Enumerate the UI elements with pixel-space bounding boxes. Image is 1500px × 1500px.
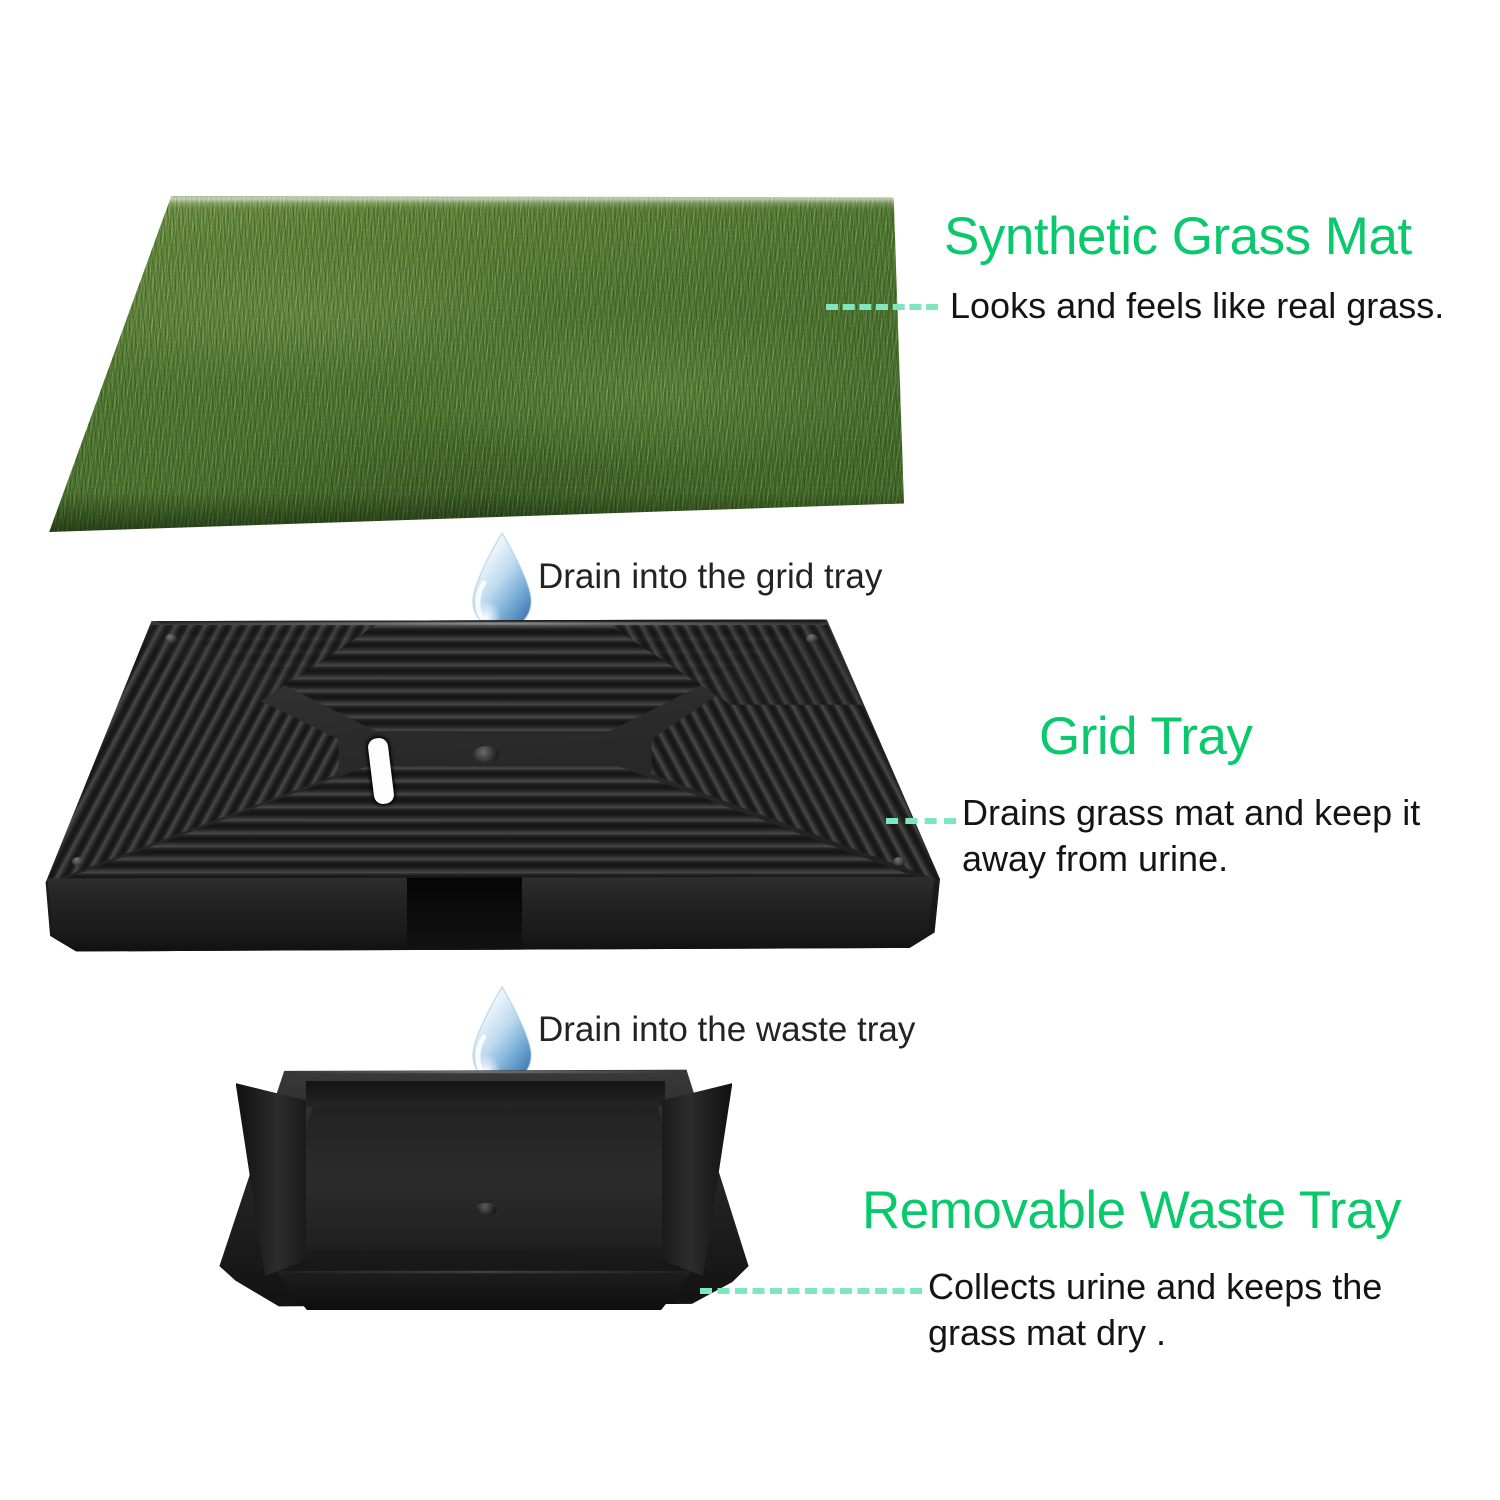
grass-bottom-shadow bbox=[44, 492, 904, 532]
synthetic-grass-mat bbox=[44, 196, 904, 532]
caption-removable-waste-tray: Collects urine and keeps the grass mat d… bbox=[928, 1264, 1428, 1356]
grid-tray-top-face bbox=[46, 619, 940, 886]
heading-grid-tray: Grid Tray bbox=[1039, 706, 1252, 767]
heading-synthetic-grass-mat: Synthetic Grass Mat bbox=[944, 206, 1412, 267]
waste-tray-rim-highlight-front bbox=[257, 1271, 711, 1273]
waste-tray-rim-highlight-top bbox=[295, 1071, 673, 1073]
flow-label-drain-into-grid-tray: Drain into the grid tray bbox=[538, 557, 882, 597]
grid-tray-base-foot bbox=[78, 951, 904, 960]
flow-label-drain-into-waste-tray: Drain into the waste tray bbox=[538, 1010, 915, 1050]
removable-waste-tray bbox=[214, 1066, 754, 1310]
waste-tray-back-wall bbox=[306, 1081, 665, 1108]
leader-line-grass-mat bbox=[826, 304, 938, 310]
caption-synthetic-grass-mat: Looks and feels like real grass. bbox=[950, 283, 1490, 329]
grid-tray-body bbox=[42, 616, 940, 960]
grass-top-edge-highlight bbox=[44, 196, 904, 210]
waste-tray-drain-plug bbox=[475, 1203, 497, 1216]
waste-tray-body bbox=[214, 1066, 754, 1310]
grid-tray-boss-bottomleft bbox=[72, 857, 84, 866]
grass-surface bbox=[44, 196, 904, 532]
grid-tray-center-plug bbox=[473, 746, 499, 763]
leader-line-grid-tray bbox=[886, 818, 956, 824]
grass-fibre-texture-4 bbox=[44, 196, 904, 532]
grid-tray-front-skirt bbox=[47, 877, 934, 953]
grid-tray-rim-highlight bbox=[153, 622, 833, 625]
grid-tray-boss-topright bbox=[806, 634, 818, 643]
grid-tray-skirt-notch bbox=[407, 877, 522, 953]
waste-tray-front-base bbox=[263, 1271, 706, 1310]
caption-grid-tray: Drains grass mat and keep it away from u… bbox=[962, 790, 1432, 882]
heading-removable-waste-tray: Removable Waste Tray bbox=[862, 1180, 1401, 1241]
infographic-canvas: Synthetic Grass Mat Looks and feels like… bbox=[0, 0, 1500, 1500]
grid-tray bbox=[42, 616, 940, 960]
leader-line-waste-tray bbox=[700, 1288, 922, 1294]
